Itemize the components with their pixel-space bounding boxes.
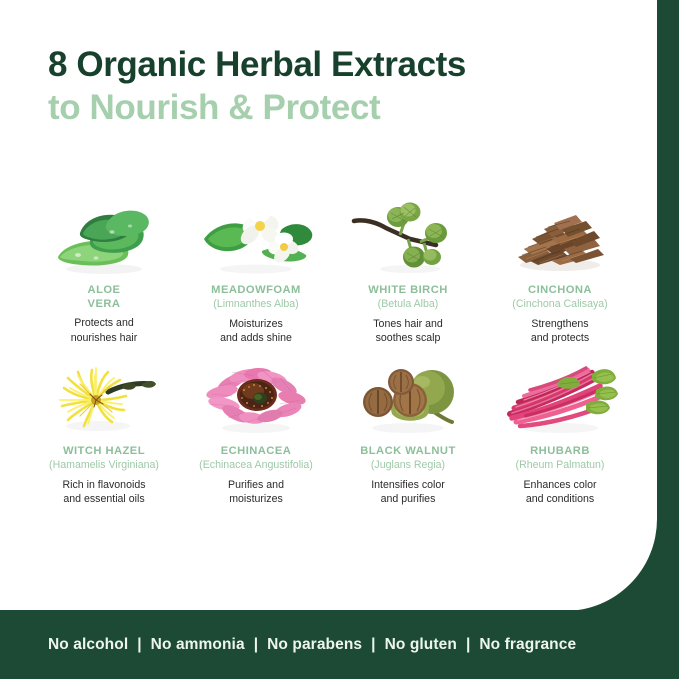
herbal-extracts-infographic: 8 Organic Herbal Extracts to Nourish & P… [0,0,679,679]
herb-desc-line-1: Moisturizes [229,318,283,330]
herb-name-line-1: ALOE [88,284,121,296]
herb-desc-line-2: soothes scalp [376,332,441,344]
herb-desc-line-2: nourishes hair [71,332,138,344]
herb-desc-line-2: moisturizes [229,493,283,505]
claims-footer-bar: No alcohol | No ammonia | No parabens | … [0,610,679,679]
herb-name: ECHINACEA [221,444,292,458]
header: 8 Organic Herbal Extracts to Nourish & P… [48,44,648,129]
page-title: 8 Organic Herbal Extracts [48,44,648,87]
herb-name: CINCHONA [528,283,592,297]
witch-hazel-flower-icon [44,356,164,438]
herb-card-black-walnut: BLACK WALNUT (Juglans Regia) Intensifies… [332,356,484,507]
herb-name: ALOE VERA [88,283,121,311]
herb-row: ALOE VERA Protects and nourishes hair [28,195,636,346]
herb-desc-line-1: Protects and [74,317,133,329]
herb-name: WITCH HAZEL [63,444,145,458]
herb-latin-name: (Limnanthes Alba) [213,298,298,312]
herb-description: Tones hair and soothes scalp [373,317,443,346]
echinacea-flower-icon [196,356,316,438]
herb-card-cinchona: CINCHONA (Cinchona Calisaya) Strengthens… [484,195,636,346]
claim-no-fragrance: No fragrance [479,636,576,654]
herb-latin-name: (Cinchona Calisaya) [512,298,607,312]
page-subtitle: to Nourish & Protect [48,87,648,130]
herb-desc-line-2: and essential oils [63,493,144,505]
herb-description: Strengthens and protects [531,317,589,346]
claim-no-parabens: No parabens [267,636,362,654]
aloe-vera-leaves-icon [44,195,164,277]
herb-name: BLACK WALNUT [360,444,456,458]
herb-desc-line-1: Tones hair and [373,318,443,330]
white-birch-catkin-icon [348,195,468,277]
herb-latin-name: (Juglans Regia) [371,459,445,473]
herb-card-echinacea: ECHINACEA (Echinacea Angustifolia) Purif… [180,356,332,507]
herb-name-line-2: VERA [88,298,121,310]
claim-separator: | [457,636,479,654]
herb-desc-line-2: and adds shine [220,332,292,344]
herb-desc-line-1: Enhances color [523,479,596,491]
herb-latin-name: (Echinacea Angustifolia) [199,459,313,473]
herb-card-white-birch: WHITE BIRCH (Betula Alba) Tones hair and… [332,195,484,346]
herb-description: Enhances color and conditions [523,478,596,507]
herb-description: Rich in flavonoids and essential oils [62,478,145,507]
herb-card-aloe-vera: ALOE VERA Protects and nourishes hair [28,195,180,346]
herb-card-witch-hazel: WITCH HAZEL (Hamamelis Virginiana) Rich … [28,356,180,507]
herb-desc-line-1: Purifies and [228,479,284,491]
herb-desc-line-1: Intensifies color [371,479,445,491]
herb-latin-name: (Hamamelis Virginiana) [49,459,159,473]
rhubarb-stalks-icon [500,356,620,438]
herb-description: Protects and nourishes hair [71,316,138,345]
herb-desc-line-2: and purifies [381,493,436,505]
meadowfoam-flower-icon [196,195,316,277]
claim-separator: | [362,636,384,654]
claims-list: No alcohol | No ammonia | No parabens | … [48,636,576,654]
herb-card-meadowfoam: MEADOWFOAM (Limnanthes Alba) Moisturizes… [180,195,332,346]
herb-card-rhubarb: RHUBARB (Rheum Palmatun) Enhances color … [484,356,636,507]
claim-no-alcohol: No alcohol [48,636,128,654]
herb-desc-line-2: and conditions [526,493,594,505]
herb-grid: ALOE VERA Protects and nourishes hair [28,195,636,507]
herb-desc-line-1: Rich in flavonoids [62,479,145,491]
claim-separator: | [128,636,150,654]
herb-latin-name: (Rheum Palmatun) [516,459,605,473]
black-walnut-icon [348,356,468,438]
herb-desc-line-1: Strengthens [531,318,588,330]
herb-desc-line-2: and protects [531,332,589,344]
herb-name: RHUBARB [530,444,590,458]
herb-description: Purifies and moisturizes [228,478,284,507]
claim-separator: | [245,636,267,654]
claim-no-gluten: No gluten [385,636,457,654]
herb-name: MEADOWFOAM [211,283,301,297]
claim-no-ammonia: No ammonia [151,636,245,654]
herb-name: WHITE BIRCH [368,283,448,297]
herb-description: Moisturizes and adds shine [220,317,292,346]
herb-row: WITCH HAZEL (Hamamelis Virginiana) Rich … [28,356,636,507]
herb-latin-name: (Betula Alba) [378,298,439,312]
cinchona-bark-icon [500,195,620,277]
herb-description: Intensifies color and purifies [371,478,445,507]
